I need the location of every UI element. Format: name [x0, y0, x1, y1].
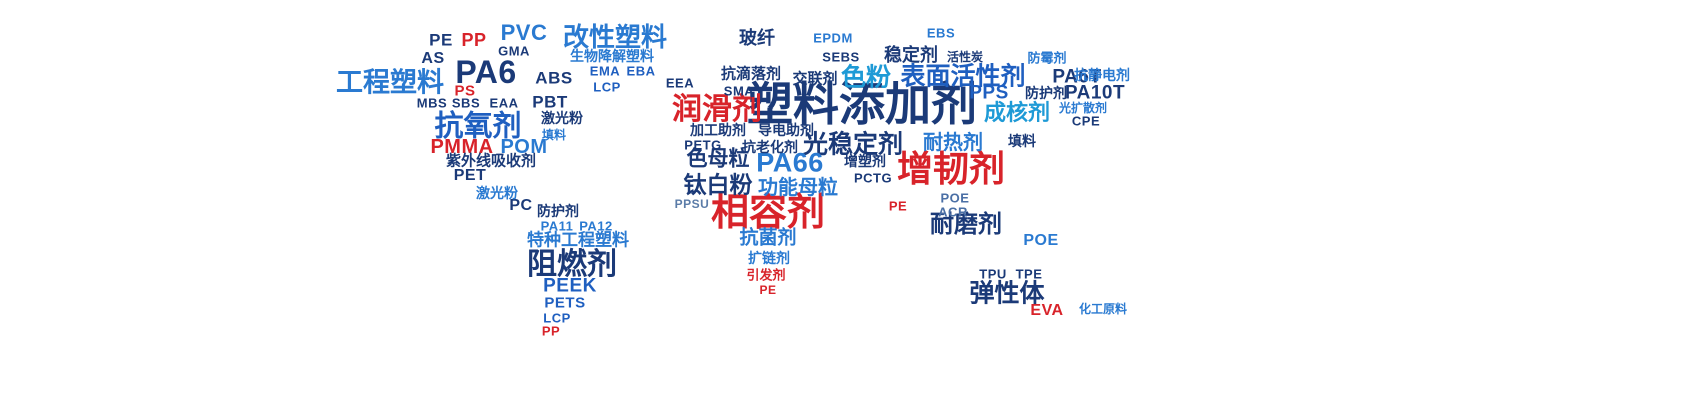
wordcloud-term[interactable]: LCP — [593, 81, 621, 94]
wordcloud-term[interactable]: 激光粉 — [541, 112, 583, 126]
wordcloud-term[interactable]: 加工助剂 — [690, 124, 746, 138]
wordcloud-term[interactable]: 导电助剂 — [758, 124, 814, 138]
wordcloud-term[interactable]: CPE — [1072, 115, 1100, 128]
wordcloud-term[interactable]: PPSU — [675, 198, 710, 210]
wordcloud-term[interactable]: PE — [889, 200, 907, 213]
wordcloud-term[interactable]: GMA — [498, 45, 530, 58]
wordcloud-term[interactable]: PE — [429, 32, 453, 49]
wordcloud-term[interactable]: 活性炭 — [947, 51, 983, 63]
wordcloud-term[interactable]: PETG — [684, 139, 721, 152]
wordcloud-term[interactable]: 改性塑料 — [563, 25, 667, 51]
wordcloud-term[interactable]: 光扩散剂 — [1059, 102, 1107, 114]
wordcloud-term[interactable]: 防霉剂 — [1027, 53, 1066, 66]
wordcloud-term[interactable]: PCTG — [854, 172, 892, 185]
wordcloud-term[interactable]: PVC — [501, 22, 548, 44]
wordcloud-term[interactable]: 特种工程塑料 — [527, 233, 629, 250]
wordcloud-term[interactable]: 稳定剂 — [884, 47, 938, 65]
wordcloud-term[interactable]: POE — [941, 192, 970, 205]
wordcloud-term[interactable]: 防护剂 — [537, 205, 579, 219]
wordcloud-term[interactable]: 化工原料 — [1079, 303, 1127, 315]
wordcloud-term[interactable]: 抗静电剂 — [1074, 69, 1130, 83]
wordcloud-term[interactable]: EBA — [627, 65, 656, 78]
wordcloud-term[interactable]: 激光粉 — [476, 187, 518, 201]
wordcloud-term[interactable]: PA10T — [1065, 84, 1125, 103]
wordcloud-term[interactable]: EVA — [1030, 303, 1063, 319]
wordcloud-term[interactable]: 润滑剂 — [672, 95, 762, 125]
wordcloud-term[interactable]: 抗菌剂 — [739, 229, 796, 248]
wordcloud-term[interactable]: PETS — [544, 296, 585, 311]
wordcloud-term[interactable]: 工程塑料 — [336, 70, 444, 97]
wordcloud-term[interactable]: 填料 — [1008, 135, 1036, 149]
wordcloud-term[interactable]: POE — [1023, 233, 1058, 249]
wordcloud-term[interactable]: PE — [759, 284, 776, 296]
wordcloud-term[interactable]: SEBS — [822, 51, 859, 64]
wordcloud-canvas: 塑料添加剂相容剂增韧剂润滑剂阻燃剂抗氧剂工程塑料改性塑料表面活性剂光稳定剂弹性体… — [0, 0, 1707, 400]
wordcloud-term[interactable]: EPDM — [813, 32, 853, 45]
wordcloud-term[interactable]: EMA — [590, 65, 620, 78]
wordcloud-term[interactable]: 增塑剂 — [844, 155, 886, 169]
wordcloud-term[interactable]: 生物降解塑料 — [570, 50, 654, 64]
wordcloud-term[interactable]: EAA — [490, 97, 519, 110]
wordcloud-term[interactable]: PBT — [532, 94, 568, 111]
wordcloud-term[interactable]: 紫外线吸收剂 — [446, 154, 536, 169]
wordcloud-term[interactable]: SMA — [724, 85, 754, 98]
wordcloud-term[interactable]: PP — [461, 31, 486, 49]
wordcloud-term[interactable]: 填料 — [542, 129, 566, 141]
wordcloud-term[interactable]: 扩链剂 — [748, 252, 790, 266]
wordcloud-term[interactable]: 耐热剂 — [923, 132, 983, 152]
wordcloud-term[interactable]: EEA — [666, 77, 694, 90]
wordcloud-term[interactable]: PPS — [969, 84, 1009, 103]
wordcloud-term[interactable]: 功能母粒 — [758, 177, 838, 197]
wordcloud-term[interactable]: PET — [454, 168, 487, 184]
wordcloud-term[interactable]: EBS — [927, 27, 955, 40]
wordcloud-term[interactable]: PEEK — [543, 277, 597, 296]
wordcloud-term[interactable]: 增韧剂 — [897, 152, 1005, 188]
wordcloud-term[interactable]: ABS — [535, 70, 572, 87]
wordcloud-term[interactable]: 玻纤 — [739, 30, 775, 48]
wordcloud-term[interactable]: AS — [421, 51, 444, 67]
wordcloud-term[interactable]: SBS — [452, 97, 480, 110]
wordcloud-term[interactable]: 成核剂 — [984, 103, 1050, 125]
wordcloud-term[interactable]: PP — [542, 325, 560, 338]
wordcloud-term[interactable]: 引发剂 — [746, 270, 785, 283]
wordcloud-term[interactable]: MBS — [417, 97, 447, 110]
wordcloud-term[interactable]: TPU — [979, 268, 1007, 281]
wordcloud-term[interactable]: TPE — [1016, 268, 1043, 281]
wordcloud-term[interactable]: 色粉 — [841, 65, 891, 90]
wordcloud-term[interactable]: ACR — [938, 206, 968, 219]
wordcloud-term[interactable]: 抗滴落剂 — [721, 67, 781, 82]
wordcloud-term[interactable]: 钛白粉 — [684, 175, 753, 198]
wordcloud-term[interactable]: 防护剂 — [1025, 87, 1067, 101]
wordcloud-term[interactable]: 抗老化剂 — [742, 141, 798, 155]
wordcloud-term[interactable]: 交联剂 — [792, 72, 837, 87]
